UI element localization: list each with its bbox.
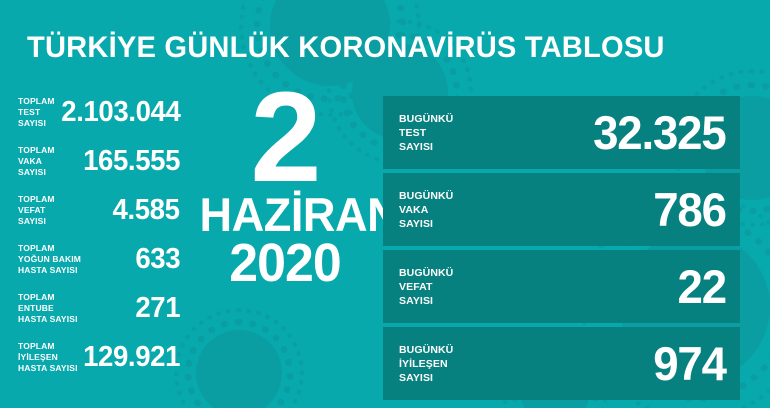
page-title: TÜRKİYE GÜNLÜK KORONAVİRÜS TABLOSU	[27, 33, 665, 63]
daily-card-value: 32.325	[594, 109, 726, 156]
total-value: 2.103.044	[61, 98, 180, 127]
total-value: 165.555	[83, 147, 180, 176]
daily-card: BUGÜNKÜ İYİLEŞEN SAYISI 974	[383, 327, 740, 400]
total-label: TOPLAM VAKA SAYISI	[18, 145, 55, 179]
total-row: TOPLAM ENTUBE HASTA SAYISI 271	[0, 284, 190, 333]
daily-card-label: BUGÜNKÜ VEFAT SAYISI	[399, 265, 453, 307]
date-year: 2020	[200, 238, 371, 290]
total-value: 4.585	[113, 196, 180, 225]
daily-card-value: 974	[653, 340, 726, 387]
total-label: TOPLAM ENTUBE HASTA SAYISI	[18, 292, 78, 326]
daily-card: BUGÜNKÜ VAKA SAYISI 786	[383, 173, 740, 246]
date-day: 2	[196, 82, 374, 193]
total-value: 633	[135, 245, 180, 274]
virus-particle-icon	[196, 330, 282, 408]
total-row: TOPLAM VAKA SAYISI 165.555	[0, 137, 190, 186]
cumulative-totals-column: TOPLAM TEST SAYISI 2.103.044 TOPLAM VAKA…	[0, 88, 190, 382]
total-row: TOPLAM VEFAT SAYISI 4.585	[0, 186, 190, 235]
total-label: TOPLAM VEFAT SAYISI	[18, 194, 55, 228]
daily-stats-column: BUGÜNKÜ TEST SAYISI 32.325 BUGÜNKÜ VAKA …	[383, 96, 740, 400]
total-row: TOPLAM İYİLEŞEN HASTA SAYISI 129.921	[0, 333, 190, 382]
daily-card-value: 22	[678, 263, 726, 310]
total-label: TOPLAM YOĞUN BAKIM HASTA SAYISI	[18, 243, 81, 277]
total-value: 271	[135, 294, 180, 323]
daily-card-value: 786	[653, 186, 726, 233]
total-label: TOPLAM İYİLEŞEN HASTA SAYISI	[18, 341, 78, 375]
date-block: 2 HAZİRAN 2020	[196, 82, 374, 289]
daily-card-label: BUGÜNKÜ VAKA SAYISI	[399, 188, 453, 230]
total-value: 129.921	[83, 343, 180, 372]
daily-card: BUGÜNKÜ TEST SAYISI 32.325	[383, 96, 740, 169]
total-label: TOPLAM TEST SAYISI	[18, 96, 55, 130]
daily-card: BUGÜNKÜ VEFAT SAYISI 22	[383, 250, 740, 323]
daily-card-label: BUGÜNKÜ İYİLEŞEN SAYISI	[399, 342, 453, 384]
daily-card-label: BUGÜNKÜ TEST SAYISI	[399, 111, 453, 153]
total-row: TOPLAM YOĞUN BAKIM HASTA SAYISI 633	[0, 235, 190, 284]
date-month: HAZİRAN	[200, 193, 371, 237]
coronavirus-daily-table-infographic: TÜRKİYE GÜNLÜK KORONAVİRÜS TABLOSU TOPLA…	[0, 0, 770, 408]
total-row: TOPLAM TEST SAYISI 2.103.044	[0, 88, 190, 137]
